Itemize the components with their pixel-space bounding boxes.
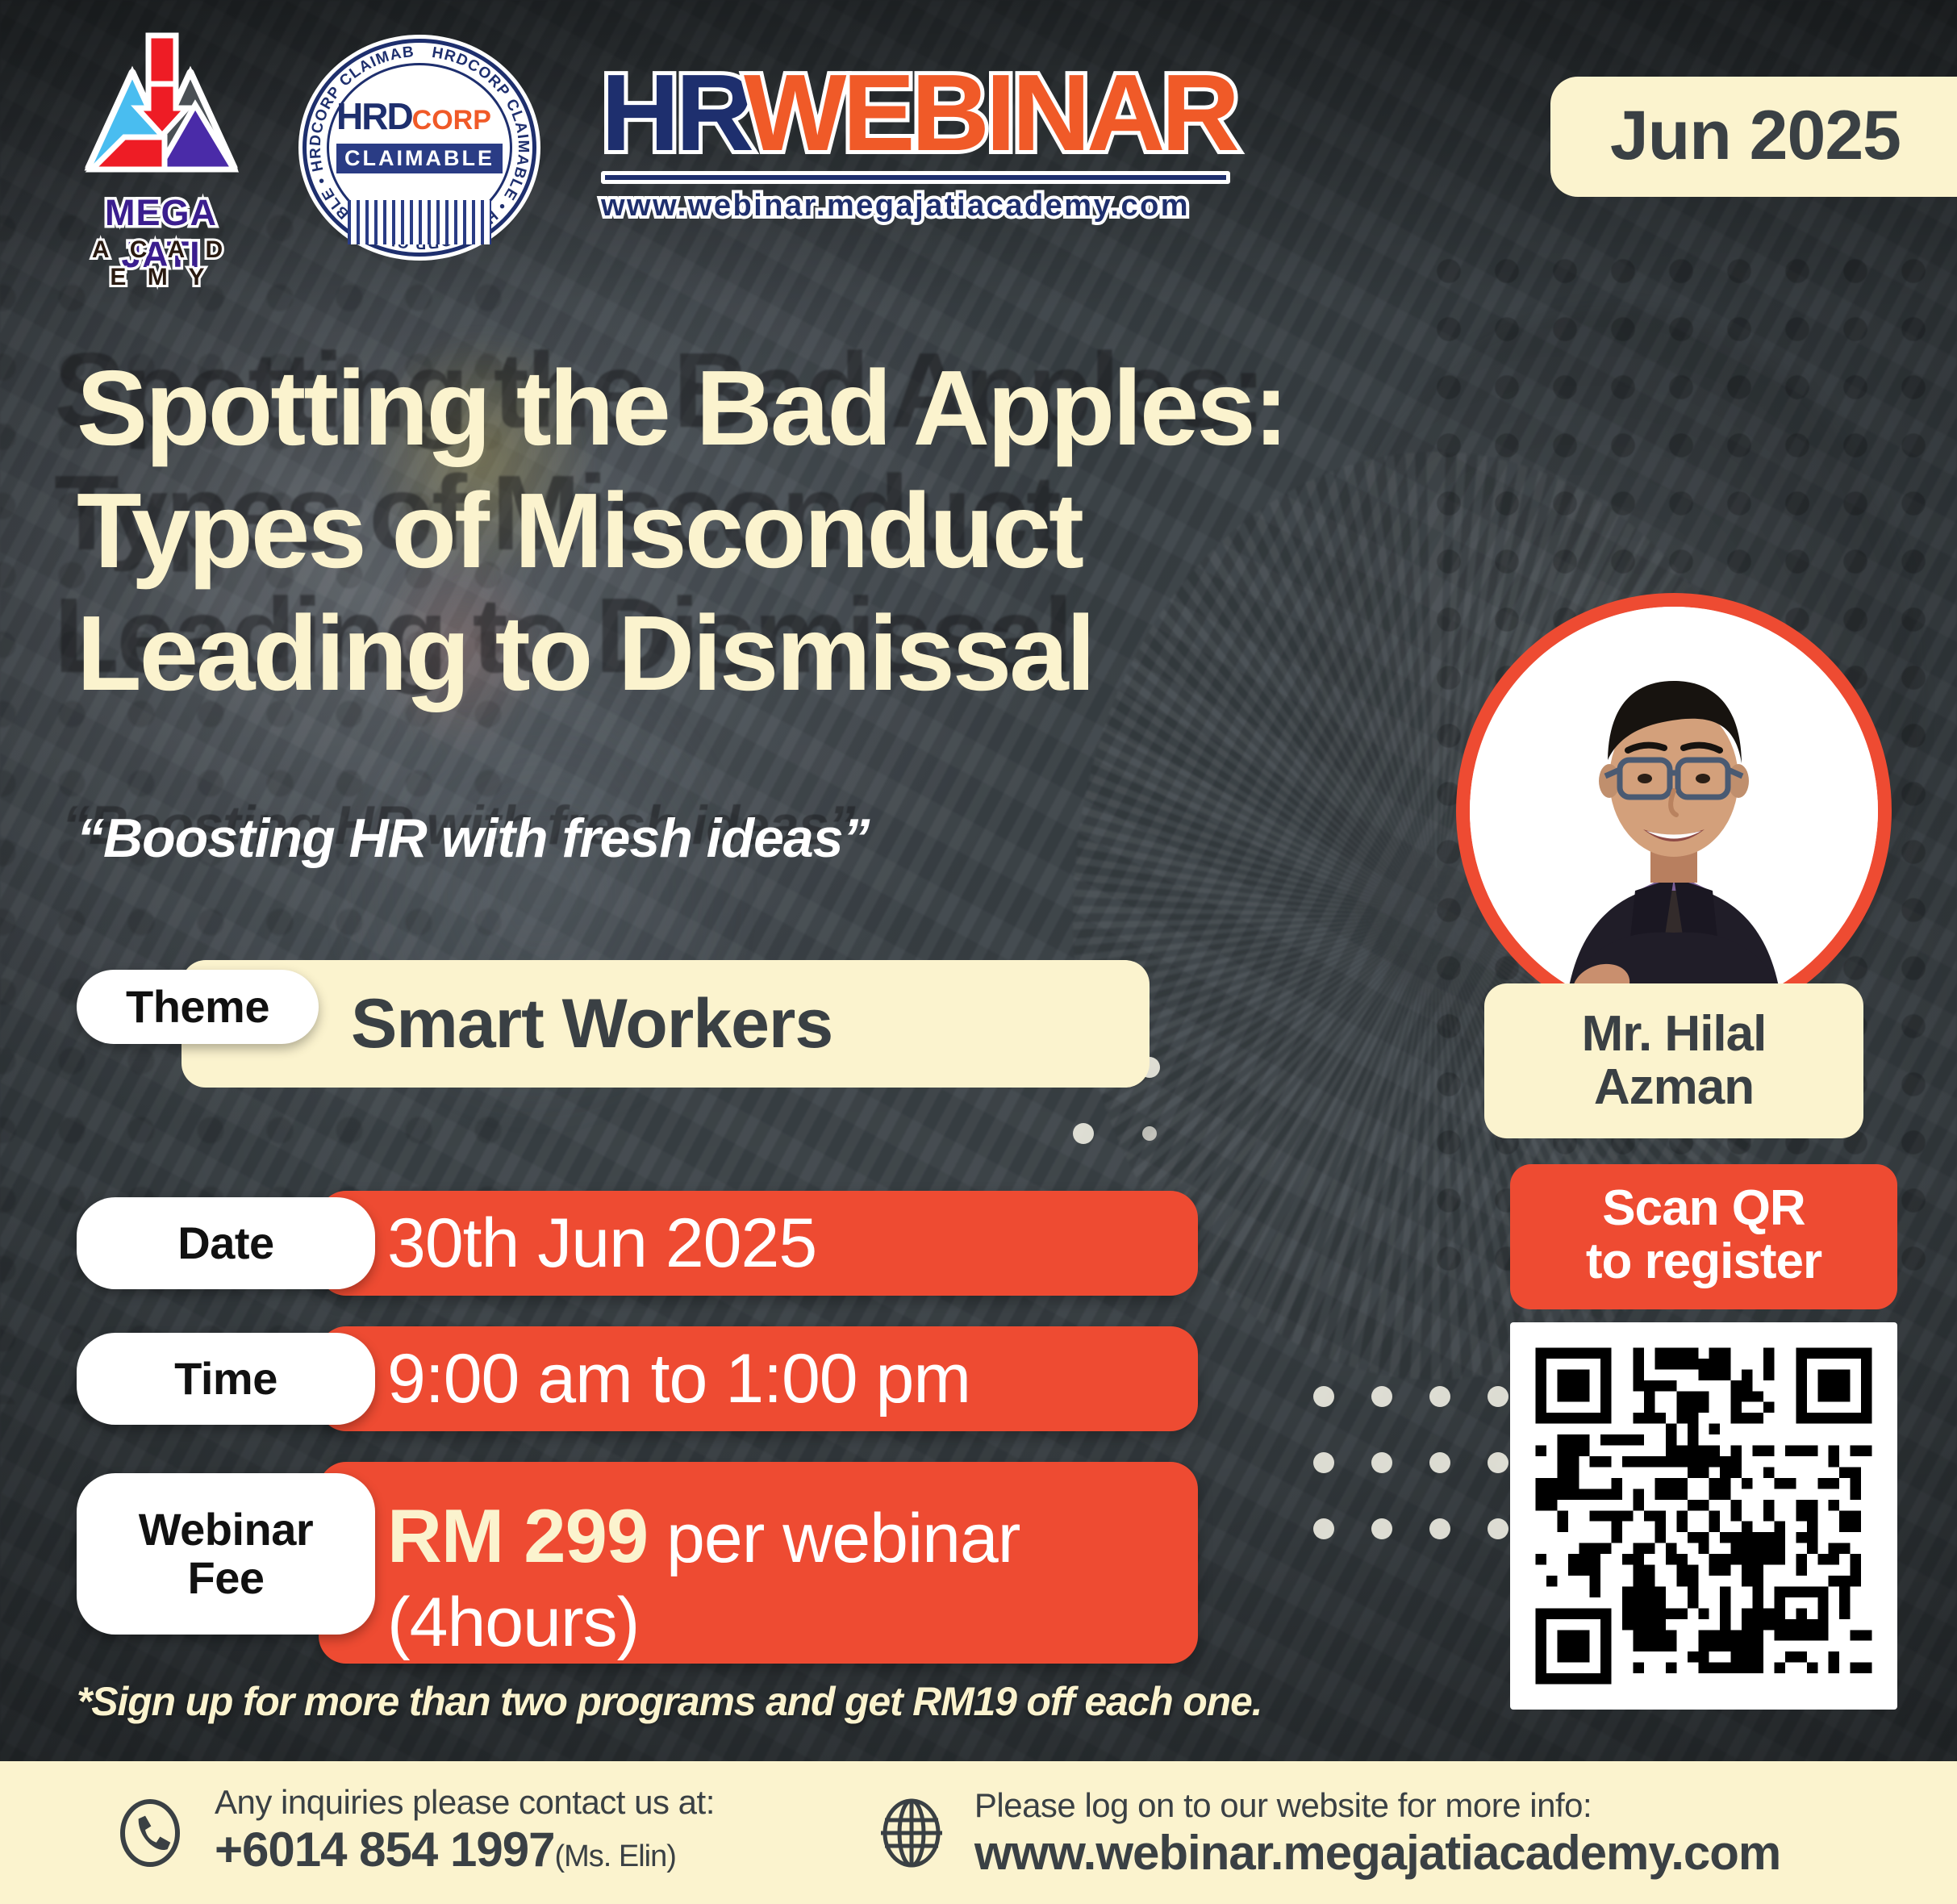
decor-dot bbox=[1371, 1518, 1392, 1539]
month-badge: Jun 2025 bbox=[1550, 77, 1957, 197]
fee-value: RM 299 per webinar (4hours) bbox=[387, 1486, 1020, 1672]
footer-phone-number: +6014 854 1997 bbox=[215, 1823, 554, 1877]
date-label-chip: Date bbox=[77, 1197, 375, 1289]
speaker-name-line-1: Mr. Hilal bbox=[1582, 1006, 1767, 1062]
qr-code-image[interactable] bbox=[1510, 1322, 1897, 1710]
qr-cta-line-2: to register bbox=[1586, 1234, 1821, 1289]
poster-header: MEGA JATI A C A D E M Y HRDCORP CLAIMABL… bbox=[0, 0, 1957, 299]
qr-registration-block: Scan QR to register bbox=[1510, 1164, 1897, 1710]
discount-footnote: *Sign up for more than two programs and … bbox=[77, 1678, 1262, 1725]
fee-label-chip: Webinar Fee bbox=[77, 1473, 375, 1635]
time-label: Time bbox=[174, 1355, 277, 1403]
decor-dot bbox=[1429, 1518, 1450, 1539]
logo-text-hr: HR bbox=[601, 52, 750, 173]
fee-duration: (4hours) bbox=[387, 1580, 1020, 1664]
date-value: 30th Jun 2025 bbox=[387, 1196, 816, 1290]
fee-label-line-1: Webinar bbox=[139, 1504, 313, 1555]
theme-label-chip: Theme bbox=[77, 970, 319, 1044]
speaker-avatar bbox=[1456, 593, 1892, 1029]
time-value: 9:00 am to 1:00 pm bbox=[387, 1332, 970, 1426]
decor-dot bbox=[1313, 1452, 1334, 1473]
footer-phone-number-row: +6014 854 1997(Ms. Elin) bbox=[215, 1823, 715, 1884]
fee-label: Webinar Fee bbox=[139, 1505, 313, 1602]
decor-dot bbox=[1313, 1386, 1334, 1407]
footer-website-url[interactable]: www.webinar.megajatiacademy.com bbox=[974, 1826, 1780, 1881]
logo-text-webinar: WEBINAR bbox=[744, 52, 1236, 173]
hr-webinar-logo: HRWEBINAR www.webinar.megajatiacademy.co… bbox=[601, 56, 1246, 250]
theme-value-bar: Smart Workers bbox=[182, 960, 1150, 1088]
webinar-poster: MEGA JATI A C A D E M Y HRDCORP CLAIMABL… bbox=[0, 0, 1957, 1904]
theme-value: Smart Workers bbox=[351, 984, 832, 1064]
time-label-chip: Time bbox=[77, 1333, 375, 1425]
speaker-portrait-photo bbox=[1470, 607, 1878, 1015]
footer-phone-text: Any inquiries please contact us at: +601… bbox=[215, 1782, 715, 1884]
date-label: Date bbox=[177, 1219, 273, 1267]
phone-icon bbox=[113, 1796, 187, 1870]
footer-website-text: Please log on to our website for more in… bbox=[974, 1785, 1780, 1881]
theme-label: Theme bbox=[126, 983, 269, 1031]
speaker-name-line-2: Azman bbox=[1594, 1059, 1754, 1115]
decor-dot bbox=[1313, 1518, 1334, 1539]
fee-value-bar: RM 299 per webinar (4hours) bbox=[319, 1462, 1198, 1664]
decor-dot bbox=[1429, 1452, 1450, 1473]
decor-dot bbox=[1488, 1452, 1508, 1473]
decor-dot bbox=[1488, 1386, 1508, 1407]
seal-barcode-stripes bbox=[348, 200, 491, 244]
footer-website-block: Please log on to our website for more in… bbox=[876, 1785, 1780, 1881]
theme-row: Smart Workers Theme bbox=[77, 960, 1230, 1089]
seal-claimable-label: CLAIMABLE bbox=[336, 144, 503, 173]
seal-core: HRDCORP CLAIMABLE bbox=[336, 97, 503, 198]
mountain-logo-icon bbox=[74, 31, 248, 192]
seal-brand-corp: CORP bbox=[412, 105, 491, 136]
title-line-1: Spotting the Bad Apples: bbox=[77, 347, 1383, 470]
mega-jati-academy-logo: MEGA JATI A C A D E M Y bbox=[74, 31, 248, 273]
footer-phone-caption: Any inquiries please contact us at: bbox=[215, 1782, 715, 1823]
seal-brand-row: HRDCORP bbox=[336, 97, 503, 140]
fee-row: RM 299 per webinar (4hours) Webinar Fee bbox=[77, 1462, 1230, 1664]
tagline-text: “Boosting HR with fresh ideas” bbox=[77, 807, 870, 870]
fee-unit: per webinar bbox=[648, 1500, 1020, 1577]
footer-phone-block: Any inquiries please contact us at: +601… bbox=[113, 1782, 715, 1884]
globe-icon bbox=[876, 1796, 947, 1870]
footer-website-caption: Please log on to our website for more in… bbox=[974, 1785, 1780, 1826]
time-value-bar: 9:00 am to 1:00 pm bbox=[319, 1326, 1198, 1431]
hr-webinar-wordmark: HRWEBINAR bbox=[601, 56, 1246, 169]
fee-label-line-2: Fee bbox=[188, 1552, 265, 1603]
title-main-layer: Spotting the Bad Apples: Types of Miscon… bbox=[77, 347, 1383, 715]
poster-title: Spotting the Bad Apples: Types of Miscon… bbox=[77, 347, 1383, 715]
title-line-2: Types of Misconduct bbox=[77, 470, 1383, 592]
date-row: 30th Jun 2025 Date bbox=[77, 1191, 1230, 1296]
poster-footer: Any inquiries please contact us at: +601… bbox=[0, 1761, 1957, 1904]
seal-brand-hrd: HRD bbox=[336, 95, 412, 137]
decor-dot bbox=[1429, 1386, 1450, 1407]
title-line-3: Leading to Dismissal bbox=[77, 592, 1383, 715]
decor-dot bbox=[1371, 1386, 1392, 1407]
academy-logo-subtitle: A C A D E M Y bbox=[74, 236, 248, 291]
decor-dot bbox=[1371, 1452, 1392, 1473]
fee-amount: RM 299 bbox=[387, 1493, 648, 1578]
speaker-name-badge: Mr. Hilal Azman bbox=[1484, 983, 1863, 1138]
qr-cta-banner: Scan QR to register bbox=[1510, 1164, 1897, 1309]
time-row: 9:00 am to 1:00 pm Time bbox=[77, 1326, 1230, 1431]
qr-cta-line-1: Scan QR bbox=[1602, 1180, 1805, 1236]
hrdcorp-claimable-seal: HRDCORP CLAIMABLE • HRDCORP CLAIMABLE • … bbox=[303, 39, 536, 257]
info-panel: Smart Workers Theme 30th Jun 2025 Date 9… bbox=[77, 960, 1230, 1694]
footer-phone-contact-person: (Ms. Elin) bbox=[554, 1839, 675, 1873]
date-value-bar: 30th Jun 2025 bbox=[319, 1191, 1198, 1296]
speaker-block: Mr. Hilal Azman bbox=[1456, 593, 1892, 1138]
logo-url: www.webinar.megajatiacademy.com bbox=[601, 189, 1246, 223]
qr-code-matrix bbox=[1525, 1337, 1883, 1695]
decor-dot bbox=[1488, 1518, 1508, 1539]
poster-tagline: “Boosting HR with fresh ideas” “Boosting… bbox=[77, 807, 870, 870]
